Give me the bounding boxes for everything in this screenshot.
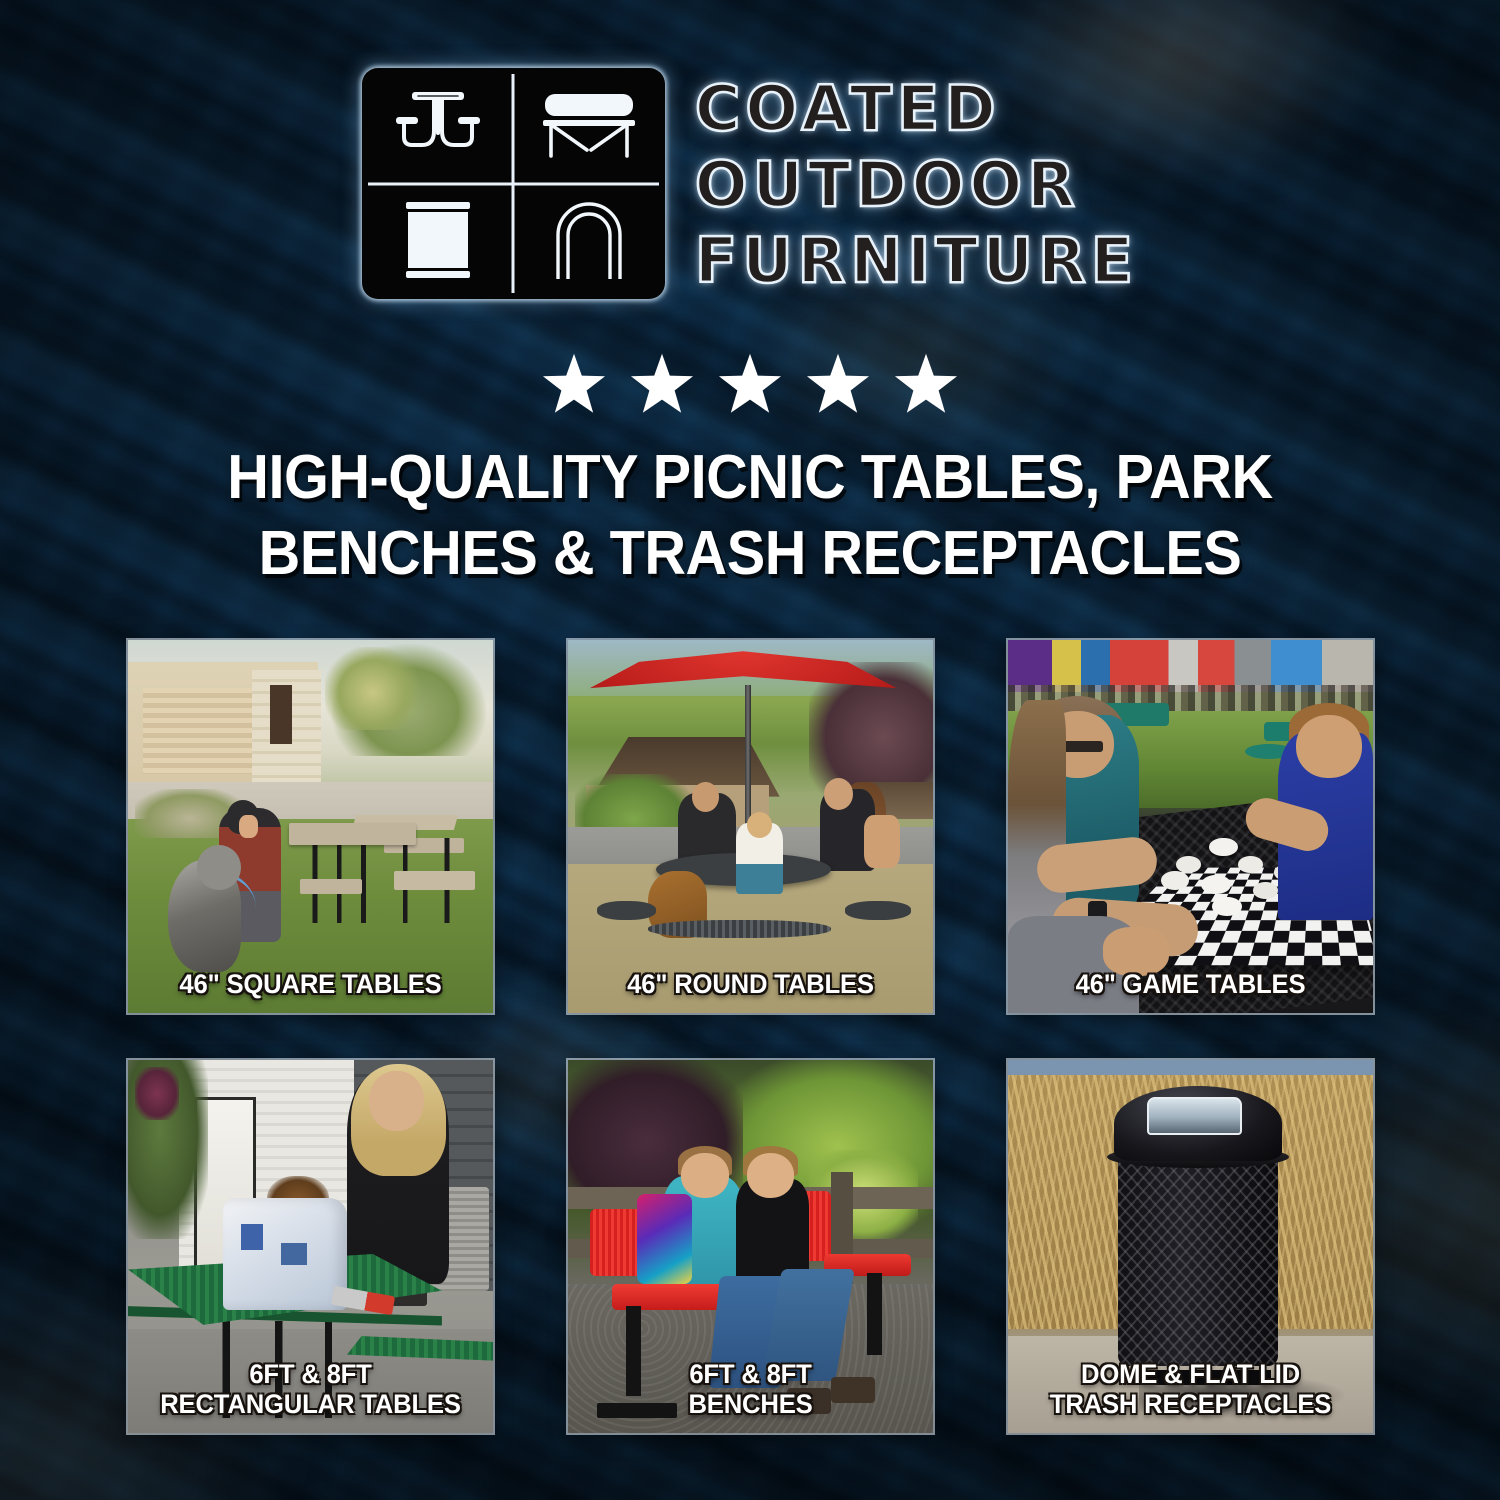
product-row-top: 46" SQUARE TABLES bbox=[128, 640, 1373, 1013]
tile-caption-line-2: BENCHES bbox=[583, 1389, 918, 1419]
brand-line-1: COATED bbox=[695, 72, 1138, 146]
product-tile-benches[interactable]: 6FT & 8FT BENCHES bbox=[568, 1060, 933, 1433]
page-title: HIGH-QUALITY PICNIC TABLES, PARK BENCHES… bbox=[108, 440, 1391, 592]
tile-caption: 6FT & 8FT BENCHES bbox=[583, 1359, 918, 1419]
tile-caption-line-1: 46" GAME TABLES bbox=[1023, 969, 1358, 999]
product-row-bottom: 6FT & 8FT RECTANGULAR TABLES bbox=[128, 1060, 1373, 1433]
tile-caption-line-2: TRASH RECEPTACLES bbox=[1023, 1389, 1358, 1419]
tile-caption-line-1: DOME & FLAT LID bbox=[1023, 1359, 1358, 1389]
star-icon bbox=[540, 352, 608, 418]
headline-line-1: HIGH-QUALITY PICNIC TABLES, PARK bbox=[108, 440, 1391, 516]
photo-square-tables bbox=[128, 640, 493, 1013]
brand-logo: COATED OUTDOOR FURNITURE bbox=[0, 68, 1500, 299]
star-icon bbox=[716, 352, 784, 418]
star-icon bbox=[804, 352, 872, 418]
photo-game-tables bbox=[1008, 640, 1373, 1013]
brand-name: COATED OUTDOOR FURNITURE bbox=[695, 68, 1138, 298]
product-tile-rectangular-tables[interactable]: 6FT & 8FT RECTANGULAR TABLES bbox=[128, 1060, 493, 1433]
product-tile-round-tables[interactable]: 46" ROUND TABLES bbox=[568, 640, 933, 1013]
product-tile-game-tables[interactable]: 46" GAME TABLES bbox=[1008, 640, 1373, 1013]
bike-rack-arch-icon bbox=[513, 184, 665, 300]
tile-caption: 46" GAME TABLES bbox=[1023, 969, 1358, 999]
tile-caption: DOME & FLAT LID TRASH RECEPTACLES bbox=[1023, 1359, 1358, 1419]
product-tile-trash-receptacles[interactable]: DOME & FLAT LID TRASH RECEPTACLES bbox=[1008, 1060, 1373, 1433]
promo-banner: COATED OUTDOOR FURNITURE HIGH-QUALITY PI… bbox=[0, 0, 1500, 1500]
headline-line-2: BENCHES & TRASH RECEPTACLES bbox=[108, 516, 1391, 592]
picnic-table-icon bbox=[362, 68, 514, 184]
tile-caption-line-2: RECTANGULAR TABLES bbox=[143, 1389, 478, 1419]
trash-receptacle-icon bbox=[362, 184, 514, 300]
tile-caption-line-1: 6FT & 8FT bbox=[583, 1359, 918, 1389]
product-category-grid: 46" SQUARE TABLES bbox=[128, 640, 1373, 1433]
tile-caption: 46" SQUARE TABLES bbox=[143, 969, 478, 999]
tile-caption-line-1: 6FT & 8FT bbox=[143, 1359, 478, 1389]
photo-round-tables bbox=[568, 640, 933, 1013]
tile-caption: 6FT & 8FT RECTANGULAR TABLES bbox=[143, 1359, 478, 1419]
star-icon bbox=[892, 352, 960, 418]
star-rating bbox=[0, 352, 1500, 418]
bench-icon bbox=[513, 68, 665, 184]
star-icon bbox=[628, 352, 696, 418]
brand-line-3: FURNITURE bbox=[695, 224, 1138, 298]
product-tile-square-tables[interactable]: 46" SQUARE TABLES bbox=[128, 640, 493, 1013]
tile-caption-line-1: 46" ROUND TABLES bbox=[583, 969, 918, 999]
tile-caption-line-1: 46" SQUARE TABLES bbox=[143, 969, 478, 999]
logo-icon-grid bbox=[362, 68, 665, 299]
brand-line-2: OUTDOOR bbox=[695, 148, 1138, 222]
tile-caption: 46" ROUND TABLES bbox=[583, 969, 918, 999]
